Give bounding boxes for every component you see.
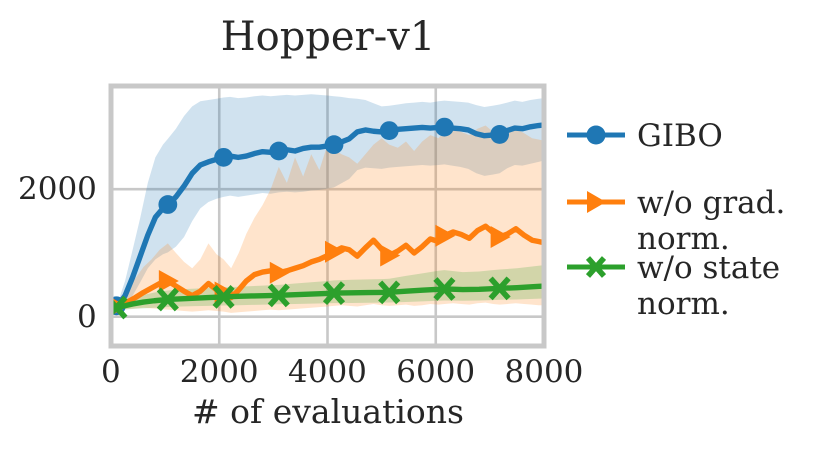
legend-marker-triangle-right-icon	[565, 185, 627, 219]
x-tick-label-2000: 2000	[180, 354, 259, 390]
x-tick-label-8000: 8000	[505, 354, 584, 390]
x-axis-label: # of evaluations	[0, 392, 656, 431]
legend-label-wo-grad-norm: w/o grad. norm.	[637, 185, 785, 257]
marker-0-2	[214, 148, 233, 167]
marker-0-6	[435, 118, 454, 137]
marker-0-5	[380, 121, 399, 140]
marker-0-7	[490, 125, 509, 144]
legend-marker-circle-icon	[565, 118, 627, 152]
y-tick-label-2000: 2000	[18, 171, 97, 207]
marker-0-1	[158, 195, 177, 214]
legend-label-wo-state-norm: w/o state norm.	[637, 250, 780, 322]
x-tick-label-6000: 6000	[396, 354, 475, 390]
marker-0-4	[325, 135, 344, 154]
x-tick-label-4000: 4000	[288, 354, 367, 390]
legend-marker-x-icon	[565, 250, 627, 284]
y-tick-label-0: 0	[77, 299, 97, 335]
legend-item-wo-state-norm[interactable]: w/o state norm.	[565, 250, 780, 322]
legend-item-wo-grad-norm[interactable]: w/o grad. norm.	[565, 185, 785, 257]
legend-item-gibo[interactable]: GIBO	[565, 118, 723, 154]
marker-0-3	[269, 142, 288, 161]
x-tick-label-0: 0	[101, 354, 121, 390]
legend-label-gibo: GIBO	[637, 118, 723, 154]
